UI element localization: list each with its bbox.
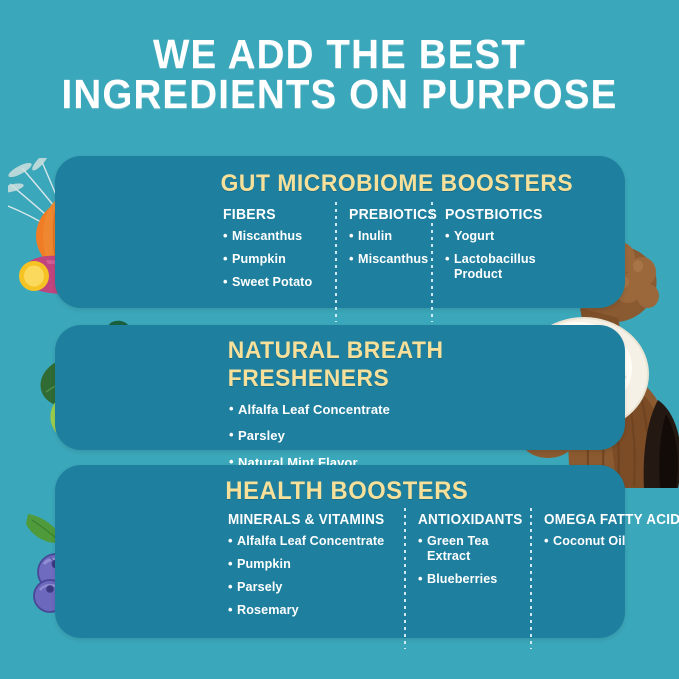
column-antioxidants: ANTIOXIDANTS Green Tea Extract Blueberri… (404, 512, 530, 625)
column-header-prebiotics: PREBIOTICS (349, 206, 416, 223)
column-header-fibers: FIBERS (223, 206, 318, 223)
panel-2-title: NATURAL BREATH FRESHENERS (205, 325, 595, 393)
list-item: Blueberries (418, 572, 520, 587)
list-item: Miscanthus (223, 229, 325, 244)
panel-1-body: GUT MICROBIOME BOOSTERS FIBERS Miscanthu… (175, 156, 615, 308)
column-header-minerals-vitamins: MINERALS & VITAMINS (228, 512, 382, 528)
column-header-omega-fatty-acids: OMEGA FATTY ACIDS (544, 512, 670, 528)
panel-3-body: HEALTH BOOSTERS MINERALS & VITAMINS Alfa… (175, 465, 615, 638)
page-title-line-1: WE ADD THE BEST (20, 34, 658, 74)
list-item: Pumpkin (223, 252, 325, 267)
list-prebiotics: Inulin Miscanthus (349, 229, 421, 267)
page-title: WE ADD THE BEST INGREDIENTS ON PURPOSE (20, 34, 658, 114)
page-title-line-2: INGREDIENTS ON PURPOSE (20, 74, 658, 114)
panel-natural-breath-fresheners: NATURAL BREATH FRESHENERS Alfalfa Leaf C… (55, 325, 625, 450)
list-item: Rosemary (228, 603, 394, 618)
list-omega-fatty-acids: Coconut Oil (544, 534, 679, 549)
panel-gut-microbiome-boosters: GUT MICROBIOME BOOSTERS FIBERS Miscanthu… (55, 156, 625, 308)
list-fibers: Miscanthus Pumpkin Sweet Potato (223, 229, 325, 290)
column-fibers: FIBERS Miscanthus Pumpkin Sweet Potato (223, 206, 335, 298)
list-item: Parsley (229, 428, 615, 443)
list-breath-fresheners: Alfalfa Leaf Concentrate Parsley Natural… (205, 402, 615, 470)
list-postbiotics: Yogurt Lactobacillus Product (445, 229, 551, 282)
column-omega-fatty-acids: OMEGA FATTY ACIDS Coconut Oil (530, 512, 679, 625)
list-item: Coconut Oil (544, 534, 679, 549)
list-item: Miscanthus (349, 252, 421, 267)
list-item: Alfalfa Leaf Concentrate (229, 402, 615, 417)
panel-2-body: NATURAL BREATH FRESHENERS Alfalfa Leaf C… (205, 325, 615, 450)
panel-3-title: HEALTH BOOSTERS (175, 465, 593, 506)
list-item: Inulin (349, 229, 421, 244)
list-antioxidants: Green Tea Extract Blueberries (418, 534, 520, 587)
list-item: Lactobacillus Product (445, 252, 551, 282)
column-prebiotics: PREBIOTICS Inulin Miscanthus (335, 206, 431, 298)
panel-3-columns: MINERALS & VITAMINS Alfalfa Leaf Concent… (175, 512, 615, 625)
column-minerals-vitamins: MINERALS & VITAMINS Alfalfa Leaf Concent… (228, 512, 404, 625)
list-item: Parsely (228, 580, 394, 595)
panel-1-title: GUT MICROBIOME BOOSTERS (175, 156, 593, 198)
list-item: Pumpkin (228, 557, 394, 572)
panel-health-boosters: HEALTH BOOSTERS MINERALS & VITAMINS Alfa… (55, 465, 625, 638)
list-minerals-vitamins: Alfalfa Leaf Concentrate Pumpkin Parsely… (228, 534, 394, 617)
list-item: Alfalfa Leaf Concentrate (228, 534, 394, 549)
column-header-postbiotics: POSTBIOTICS (445, 206, 544, 223)
list-item: Sweet Potato (223, 275, 325, 290)
panel-1-columns: FIBERS Miscanthus Pumpkin Sweet Potato P… (175, 206, 615, 298)
list-item: Yogurt (445, 229, 551, 244)
column-postbiotics: POSTBIOTICS Yogurt Lactobacillus Product (431, 206, 561, 298)
column-header-antioxidants: ANTIOXIDANTS (418, 512, 513, 528)
list-item: Green Tea Extract (418, 534, 520, 564)
